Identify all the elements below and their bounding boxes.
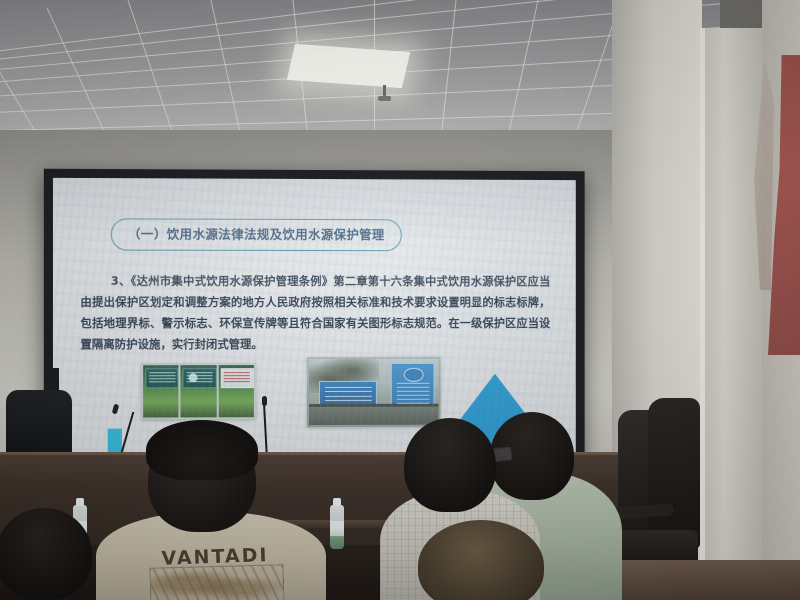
sign-line	[325, 391, 372, 392]
slide-title-box: （一）饮用水源法律法规及饮用水源保护管理	[111, 218, 402, 251]
sign-text-lines	[224, 372, 250, 383]
sign-text-lines	[186, 372, 212, 383]
signboard-cell	[143, 365, 179, 417]
signboard-cell	[218, 365, 253, 417]
audience-member-left-head	[0, 508, 92, 600]
green-signboards-photo	[141, 363, 256, 419]
cyan-accent-chip	[108, 429, 122, 455]
audience-member-center-hair	[146, 420, 258, 480]
floor	[596, 560, 800, 600]
sign-text-lines	[149, 372, 175, 383]
audience-member-right-striped-head	[404, 418, 496, 512]
photo-road	[309, 406, 438, 425]
green-sign	[183, 368, 216, 388]
slide-body-prefix: 3、	[111, 275, 131, 288]
shirt-graphic	[149, 564, 284, 600]
sign-line	[325, 387, 372, 388]
sign-line	[325, 400, 372, 401]
national-emblem-icon	[404, 367, 424, 382]
pillar-edge-highlight	[700, 28, 705, 600]
chair-back	[648, 398, 700, 548]
slide-body-text: 3、《达州市集中式饮用水源保护管理条例》第二章第十六条集中式饮用水源保护区应当由…	[80, 271, 550, 356]
signboard-cell	[181, 365, 217, 417]
water-bottle[interactable]	[330, 505, 344, 549]
sprinkler-head	[383, 85, 386, 99]
blue-water-source-signs-photo	[307, 357, 440, 427]
white-sign	[221, 368, 254, 388]
microphone-head	[262, 396, 267, 406]
wall-pillar	[700, 28, 762, 600]
bottle-label	[330, 521, 344, 536]
slide-title: （一）饮用水源法律法规及饮用水源保护管理	[128, 226, 385, 242]
slide-body-content: 《达州市集中式饮用水源保护管理条例》第二章第十六条集中式饮用水源保护区应当由提出…	[80, 275, 550, 351]
conference-room-photo: （一）饮用水源法律法规及饮用水源保护管理 3、《达州市集中式饮用水源保护管理条例…	[0, 0, 800, 600]
sign-line	[325, 396, 372, 397]
green-sign	[145, 368, 178, 388]
